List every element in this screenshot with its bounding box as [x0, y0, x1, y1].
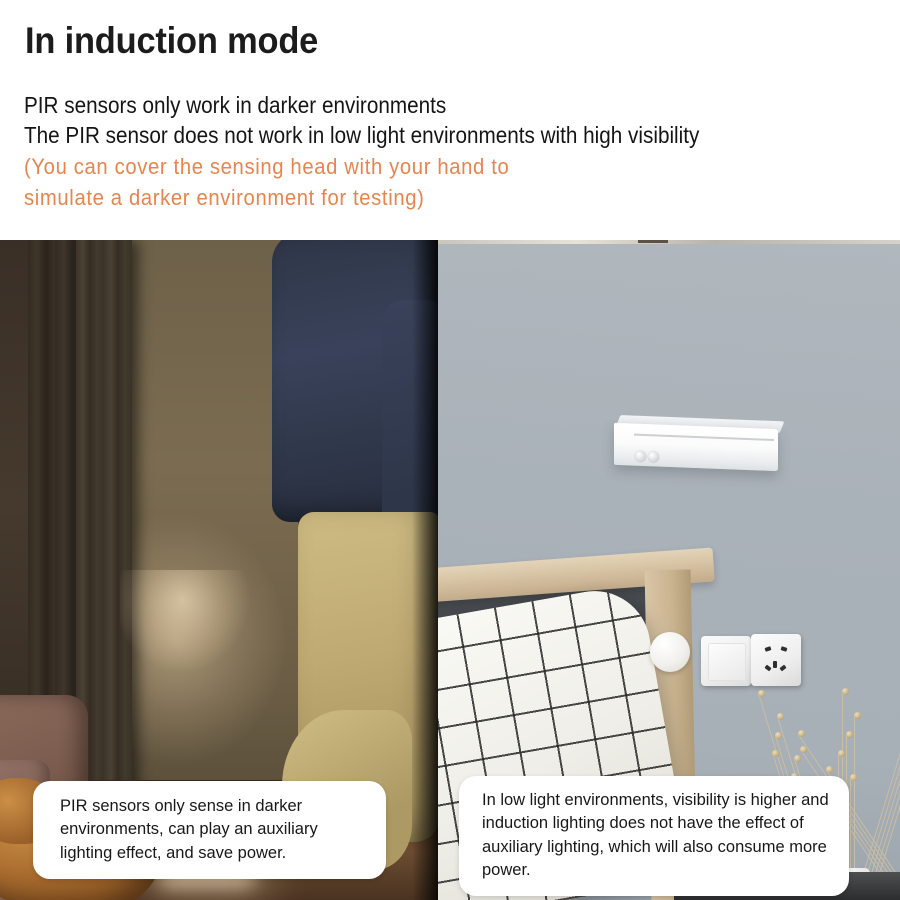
note-line-1: (You can cover the sensing head with you…	[24, 151, 808, 182]
flower-bud	[838, 750, 845, 757]
description-line-1: PIR sensors only work in darker environm…	[24, 91, 791, 121]
panel-edge-shadow	[412, 240, 438, 900]
flower-bud	[826, 766, 833, 773]
flower-bud	[794, 755, 801, 762]
wall-socket	[751, 634, 801, 686]
socket-hole-icon	[781, 646, 788, 652]
flower-bud	[800, 746, 807, 753]
flower-bud	[846, 731, 853, 738]
product-infographic-page: In induction mode PIR sensors only work …	[0, 0, 900, 900]
description-block: PIR sensors only work in darker environm…	[24, 91, 876, 213]
header-text-block: In induction mode PIR sensors only work …	[0, 0, 900, 240]
page-title: In induction mode	[25, 22, 816, 61]
ceiling-trim	[438, 240, 900, 244]
caption-bubble-dark-room: PIR sensors only sense in darker environ…	[33, 781, 386, 879]
flower-bud	[798, 730, 805, 737]
flower-bud	[850, 774, 857, 781]
led-bar-body	[614, 423, 778, 471]
pir-sensor-icon-secondary	[648, 451, 659, 462]
caption-bubble-bright-room: In low light environments, visibility is…	[459, 776, 849, 896]
flower-bud	[775, 732, 782, 739]
socket-hole-icon	[773, 661, 777, 668]
pillow-pompom	[650, 632, 690, 672]
flower-bud	[842, 688, 849, 695]
socket-hole-icon	[765, 646, 772, 652]
ceiling-mark	[638, 240, 668, 243]
flower-bud	[854, 712, 861, 719]
socket-hole-icon	[779, 665, 786, 672]
note-line-2: simulate a darker environment for testin…	[24, 182, 808, 213]
pir-sensor-icon	[635, 451, 646, 462]
switch-rocker-icon	[708, 643, 746, 681]
socket-hole-icon	[764, 665, 771, 672]
flower-stem	[854, 716, 855, 880]
description-line-2: The PIR sensor does not work in low ligh…	[24, 121, 791, 151]
wall-switch	[701, 636, 751, 686]
led-bar-light-off	[614, 415, 778, 471]
led-bar-seam	[634, 434, 774, 441]
